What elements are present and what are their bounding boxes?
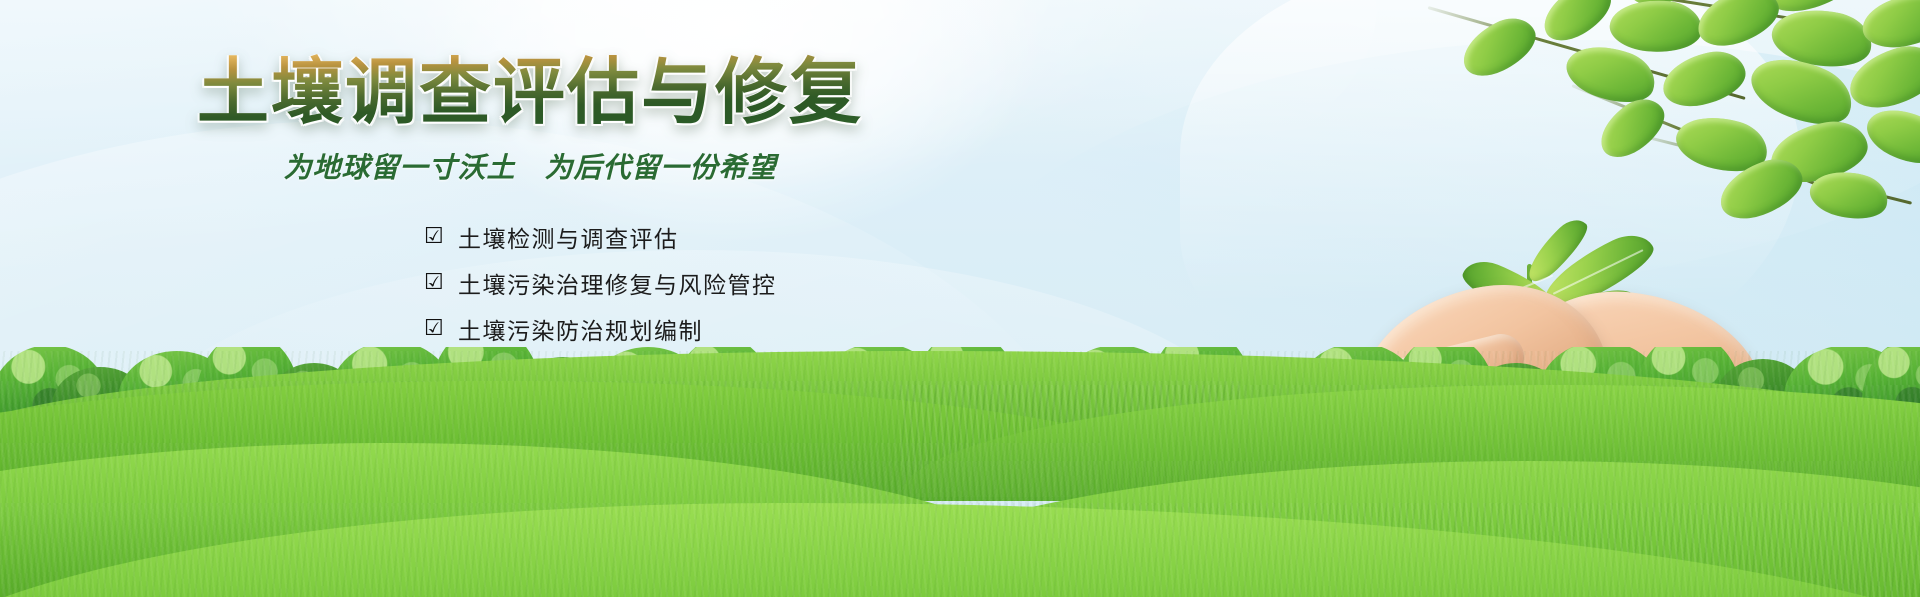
page-title: 土壤调查评估与修复 (0, 54, 1060, 132)
checkbox-checked-icon: ☑ (424, 226, 458, 248)
banner-subtitle: 为地球留一寸沃土 为后代留一份希望 (0, 146, 1060, 186)
leaf-icon (1608, 0, 1705, 57)
list-item: ☑ 土壤检测与调查评估 (424, 220, 1060, 254)
list-item: ☑ 土壤污染防治规划编制 (424, 312, 1060, 346)
list-item-label: 土壤污染治理修复与风险管控 (458, 266, 777, 300)
landscape-ground (0, 347, 1920, 597)
checkbox-checked-icon: ☑ (424, 318, 458, 340)
list-item-label: 土壤污染防治规划编制 (458, 312, 703, 346)
checkbox-checked-icon: ☑ (424, 272, 458, 294)
leaf-icon (1658, 46, 1751, 112)
feature-list: ☑ 土壤检测与调查评估 ☑ 土壤污染治理修复与风险管控 ☑ 土壤污染防治规划编制 (0, 220, 1060, 346)
leaf-icon (1690, 0, 1785, 54)
list-item: ☑ 土壤污染治理修复与风险管控 (424, 266, 1060, 300)
banner-text-block: 土壤调查评估与修复 土壤调查评估与修复 为地球留一寸沃土 为后代留一份希望 ☑ … (0, 0, 1060, 358)
list-item-label: 土壤检测与调查评估 (458, 220, 679, 254)
soil-survey-banner: 土壤调查评估与修复 土壤调查评估与修复 为地球留一寸沃土 为后代留一份希望 ☑ … (0, 0, 1920, 597)
leaf-icon (1860, 97, 1920, 175)
